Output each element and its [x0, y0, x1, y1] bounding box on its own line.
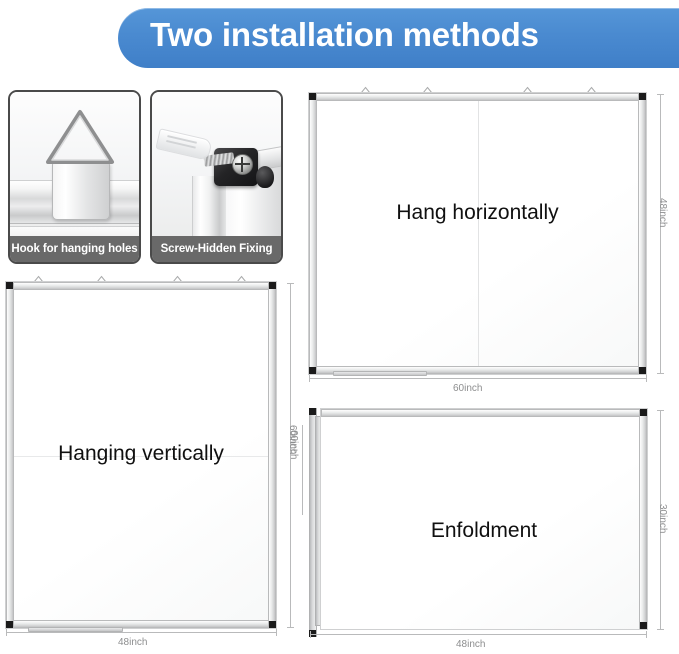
corner-bracket-br: [640, 622, 647, 629]
screw-head-icon: [232, 154, 253, 175]
corner-bracket-br: [639, 367, 646, 374]
dimension-tick: [646, 375, 647, 382]
installation-methods-infographic: Two installation methods Hook for hangin…: [0, 0, 679, 654]
wall-anchor-icon: [155, 128, 212, 161]
hook-clip: [52, 162, 110, 220]
dimension-line-height-horizontal: [660, 94, 661, 373]
corner-bracket-tr: [269, 282, 276, 289]
frame-top: [6, 282, 276, 290]
board-center-line: [478, 93, 479, 374]
dimension-line-side-enfoldment: [302, 425, 303, 515]
corner-bracket-tl: [6, 282, 13, 289]
dimension-tick: [287, 283, 294, 284]
corner-bracket-bl: [6, 621, 13, 628]
board-label-enfoldment: Enfoldment: [321, 519, 647, 543]
dimension-tick: [287, 627, 294, 628]
triangle-hook-icon: [42, 108, 118, 168]
frame-top: [321, 409, 647, 417]
whiteboard-vertical: Hanging vertically: [5, 281, 277, 629]
hook-photo: [10, 92, 139, 236]
dimension-tick: [6, 629, 7, 636]
whiteboard-enfoldment: Enfoldment: [320, 408, 648, 630]
dimension-tick: [657, 410, 664, 411]
marker-tray: [333, 371, 427, 376]
inset-caption-hook: Hook for hanging holes: [10, 236, 139, 262]
dimension-line-width-enfoldment: [310, 634, 647, 635]
dimension-tick: [657, 373, 664, 374]
dimension-tick: [276, 629, 277, 636]
dimension-label-48inch-vertical: 48inch: [657, 198, 668, 227]
dimension-line-width-vertical: [6, 632, 277, 633]
inset-card-screw: Screw-Hidden Fixing: [150, 90, 283, 264]
corner-bracket-tr: [639, 93, 646, 100]
dimension-line-width-horizontal: [309, 378, 647, 379]
dimension-label-30inch: 30inch: [657, 504, 668, 533]
board-label-vertical: Hanging vertically: [6, 442, 276, 466]
corner-bracket-bl: [309, 367, 316, 374]
dimension-label-60inch-horizontal: 60inch: [453, 383, 482, 394]
corner-bracket-tr: [640, 409, 647, 416]
dimension-tick: [309, 375, 310, 382]
screw-photo: [152, 92, 281, 236]
page-title: Two installation methods: [150, 16, 679, 54]
dimension-label-60inch-side: 60inch: [288, 430, 299, 459]
frame-right: [638, 93, 646, 374]
plastic-cap-icon: [256, 166, 274, 188]
corner-bracket-br: [269, 621, 276, 628]
frame-left: [309, 93, 317, 374]
dimension-label-48inch-enfoldment: 48inch: [456, 639, 485, 650]
corner-bracket-fold-top: [309, 408, 316, 415]
dimension-tick: [310, 631, 311, 638]
whiteboard-horizontal: Hang horizontally: [308, 92, 647, 375]
inset-caption-screw: Screw-Hidden Fixing: [152, 236, 281, 262]
aluminium-rail-lower: [10, 226, 139, 236]
dimension-tick: [657, 94, 664, 95]
board-label-horizontal: Hang horizontally: [309, 201, 646, 225]
inset-card-hook: Hook for hanging holes: [8, 90, 141, 264]
dimension-tick: [657, 629, 664, 630]
frame-top: [309, 93, 646, 101]
dimension-label-48inch-vertical-board: 48inch: [118, 637, 147, 648]
dimension-tick: [646, 631, 647, 638]
corner-bracket-tl: [309, 93, 316, 100]
